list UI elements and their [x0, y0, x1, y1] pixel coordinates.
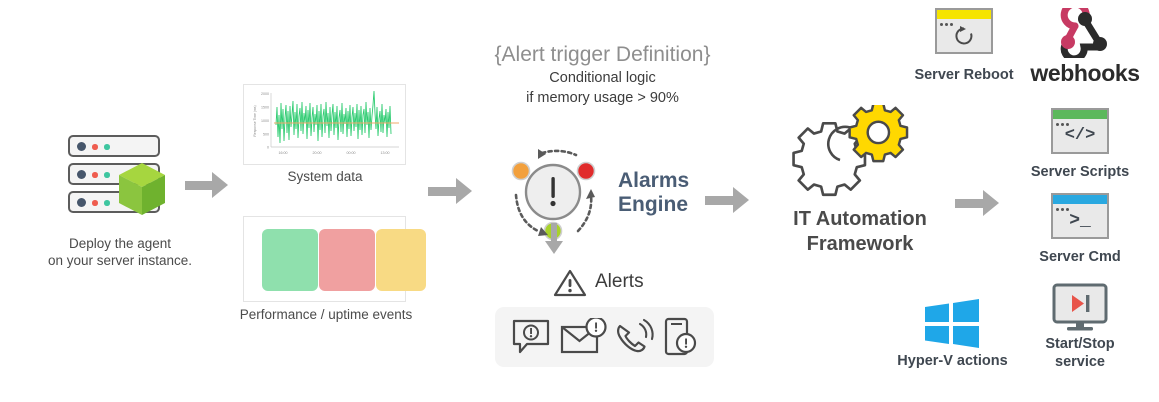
response-time-chart: 2000 1500 1000 500 0 16:00 20:00 00:00 1… — [244, 85, 407, 166]
status-dot-blue — [77, 198, 86, 207]
arrow-automation-to-actions — [955, 190, 1001, 216]
svg-text:1000: 1000 — [261, 119, 269, 123]
stage-automation: IT Automation Framework — [760, 105, 960, 265]
deploy-caption-line1: Deploy the agent — [38, 235, 202, 252]
system-data-chart-card: 2000 1500 1000 500 0 16:00 20:00 00:00 1… — [243, 84, 406, 165]
alarms-engine-label-line2: Engine — [618, 193, 688, 217]
svg-text:500: 500 — [263, 133, 269, 137]
arrow-deploy-to-data — [185, 172, 228, 198]
trigger-definition: {Alert trigger Definition} Conditional l… — [455, 42, 750, 104]
windows-logo-icon — [921, 298, 983, 350]
window-body — [937, 19, 991, 52]
deploy-caption-line2: on your server instance. — [38, 252, 202, 269]
terminal-glyph: >_ — [1069, 211, 1091, 231]
alarms-engine-label-line1: Alarms — [618, 169, 689, 193]
action-server-scripts[interactable]: </> Server Scripts — [1016, 108, 1144, 188]
agent-cube-icon — [118, 163, 166, 217]
status-dot-blue — [77, 142, 86, 151]
chat-alert-icon[interactable] — [511, 318, 551, 356]
uptime-events-caption: Performance / uptime events — [226, 306, 426, 323]
arrow-down-to-alerts-icon — [541, 223, 567, 255]
email-alert-icon[interactable] — [560, 318, 608, 356]
code-glyph: </> — [1065, 126, 1096, 145]
automation-label-line1: IT Automation — [760, 207, 960, 232]
action-label-hyper-v: Hyper-V actions — [885, 352, 1020, 370]
browser-terminal-icon: >_ — [1051, 193, 1109, 239]
action-server-reboot[interactable]: Server Reboot — [900, 8, 1028, 88]
phone-ring-icon[interactable] — [613, 318, 655, 356]
window-body: >_ — [1053, 204, 1107, 237]
action-label-server-reboot: Server Reboot — [900, 66, 1028, 84]
svg-text:16:00: 16:00 — [279, 151, 288, 155]
event-block-error — [319, 229, 375, 291]
stage-data: 2000 1500 1000 500 0 16:00 20:00 00:00 1… — [240, 84, 430, 314]
status-dot-red — [92, 200, 98, 206]
trigger-line1: Conditional logic — [455, 68, 750, 88]
event-block-ok — [262, 229, 318, 291]
action-label-start-stop-line2: service — [1016, 353, 1144, 371]
svg-text:00:00: 00:00 — [347, 151, 356, 155]
svg-text:1500: 1500 — [261, 106, 269, 110]
alerts-group: Alerts — [495, 268, 720, 373]
svg-text:0: 0 — [267, 146, 269, 150]
status-dot-blue — [77, 170, 86, 179]
alerts-label: Alerts — [595, 271, 644, 293]
server-unit — [68, 135, 160, 157]
action-webhooks[interactable]: webhooks — [1022, 8, 1148, 88]
arrow-data-to-alarms — [428, 178, 474, 204]
status-dot-teal — [104, 144, 110, 150]
stage-deploy: Deploy the agent on your server instance… — [50, 130, 190, 260]
svg-text:Response Time (ms): Response Time (ms) — [253, 105, 257, 136]
window-body: </> — [1053, 119, 1107, 152]
action-server-cmd[interactable]: >_ Server Cmd — [1016, 193, 1144, 273]
trigger-title: {Alert trigger Definition} — [455, 42, 750, 68]
uptime-events-card — [243, 216, 406, 302]
monitor-play-pause-icon — [1050, 283, 1110, 333]
action-label-server-scripts: Server Scripts — [1016, 163, 1144, 181]
status-dot-red — [92, 144, 98, 150]
automation-label-line2: Framework — [760, 232, 960, 257]
browser-code-icon: </> — [1051, 108, 1109, 154]
action-start-stop-service[interactable]: Start/Stop service — [1016, 283, 1144, 378]
action-label-start-stop-line1: Start/Stop — [1016, 335, 1144, 353]
status-dot-red — [92, 172, 98, 178]
status-dot-teal — [104, 200, 110, 206]
alert-triangle-icon — [553, 268, 587, 298]
action-label-server-cmd: Server Cmd — [1016, 248, 1144, 266]
alarms-engine: Alarms Engine — [498, 145, 718, 255]
action-label-webhooks: webhooks — [1022, 60, 1148, 87]
event-block-warning — [376, 229, 426, 291]
browser-refresh-icon — [935, 8, 993, 54]
refresh-arrow-icon — [953, 25, 975, 47]
server-rack-icon — [68, 135, 164, 219]
svg-text:2000: 2000 — [261, 92, 269, 96]
alert-channels-tray — [495, 307, 714, 367]
webhooks-logo-icon — [1054, 8, 1116, 58]
trigger-line2: if memory usage > 90% — [455, 88, 750, 108]
action-hyper-v[interactable]: Hyper-V actions — [885, 298, 1020, 373]
arrow-alarms-to-automation — [705, 187, 751, 213]
svg-text:20:00: 20:00 — [313, 151, 322, 155]
mobile-alert-icon[interactable] — [663, 317, 697, 357]
system-data-caption: System data — [240, 168, 410, 185]
status-dot-teal — [104, 172, 110, 178]
svg-text:13:00: 13:00 — [381, 151, 390, 155]
gears-icon — [790, 105, 920, 205]
